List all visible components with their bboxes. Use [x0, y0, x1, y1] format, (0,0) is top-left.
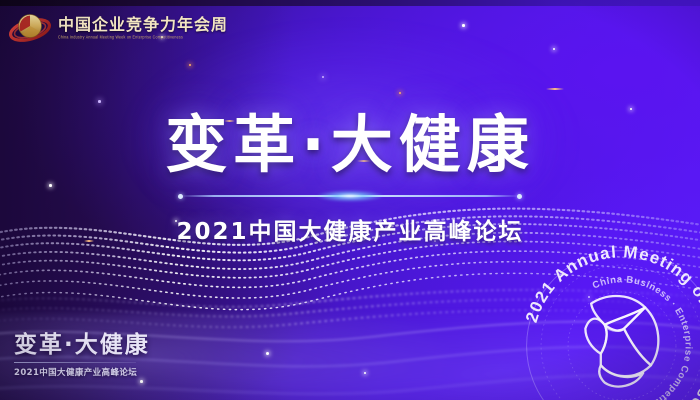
background-vignette [0, 0, 700, 400]
poster-banner: 中国企业竞争力年会周 China Industry Annual Meeting… [0, 0, 700, 400]
